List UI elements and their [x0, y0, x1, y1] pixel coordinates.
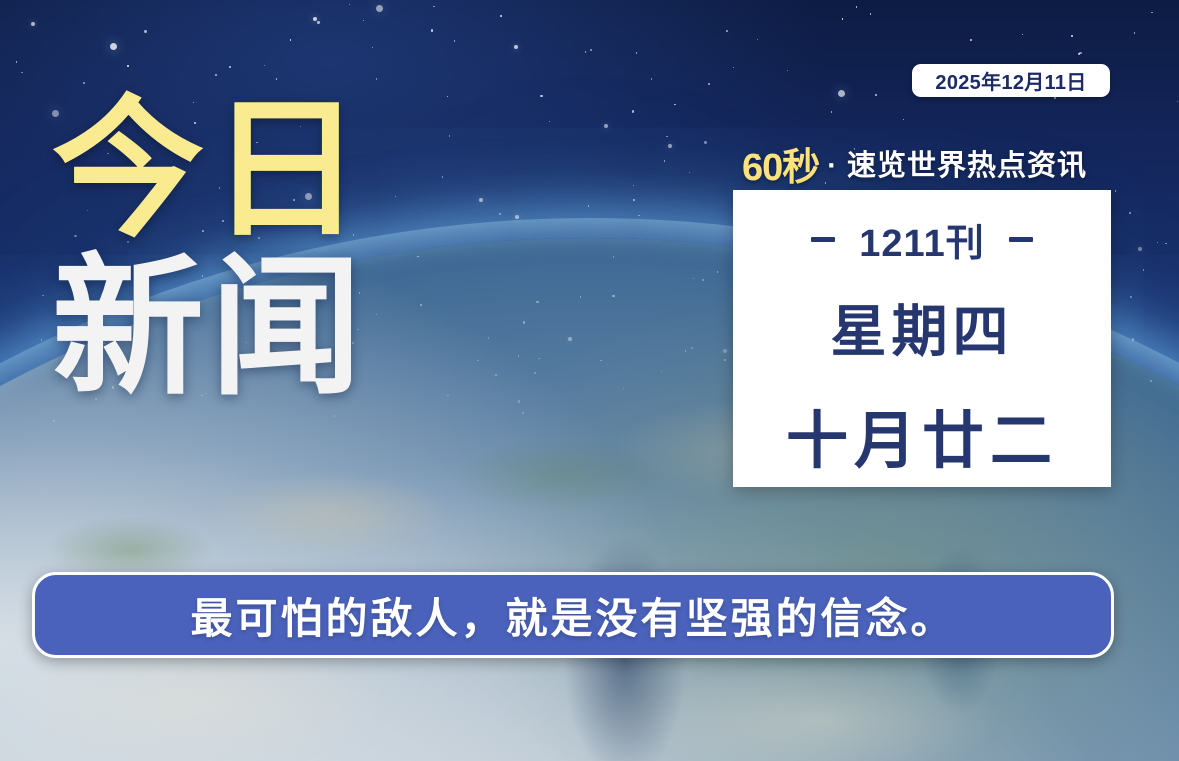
info-card: 1211刊 星期四 十月廿二 — [733, 190, 1111, 487]
tagline-highlight: 60秒 — [742, 136, 819, 191]
weekday-label: 星期四 — [831, 287, 1014, 368]
issue-number: 1211刊 — [859, 212, 984, 267]
date-badge: 2025年12月11日 — [912, 64, 1110, 97]
quote-bar: 最可怕的敌人，就是没有坚强的信念。 — [32, 572, 1114, 658]
issue-row: 1211刊 — [811, 212, 1032, 267]
lunar-date-label: 十月廿二 — [786, 390, 1058, 480]
dash-left-icon — [811, 237, 835, 242]
dash-right-icon — [1009, 237, 1033, 242]
title-line-xinwen: 新闻 — [52, 254, 482, 402]
quote-text: 最可怕的敌人，就是没有坚强的信念。 — [190, 585, 955, 646]
tagline: 60秒 · 速览世界热点资讯 — [742, 141, 1114, 185]
poster-title: 今日 新闻 — [52, 96, 482, 402]
title-line-jinri: 今日 — [52, 96, 482, 244]
news-poster: 今日 新闻 2025年12月11日 60秒 · 速览世界热点资讯 1211刊 星… — [0, 0, 1179, 761]
tagline-rest: · 速览世界热点资讯 — [827, 142, 1087, 184]
